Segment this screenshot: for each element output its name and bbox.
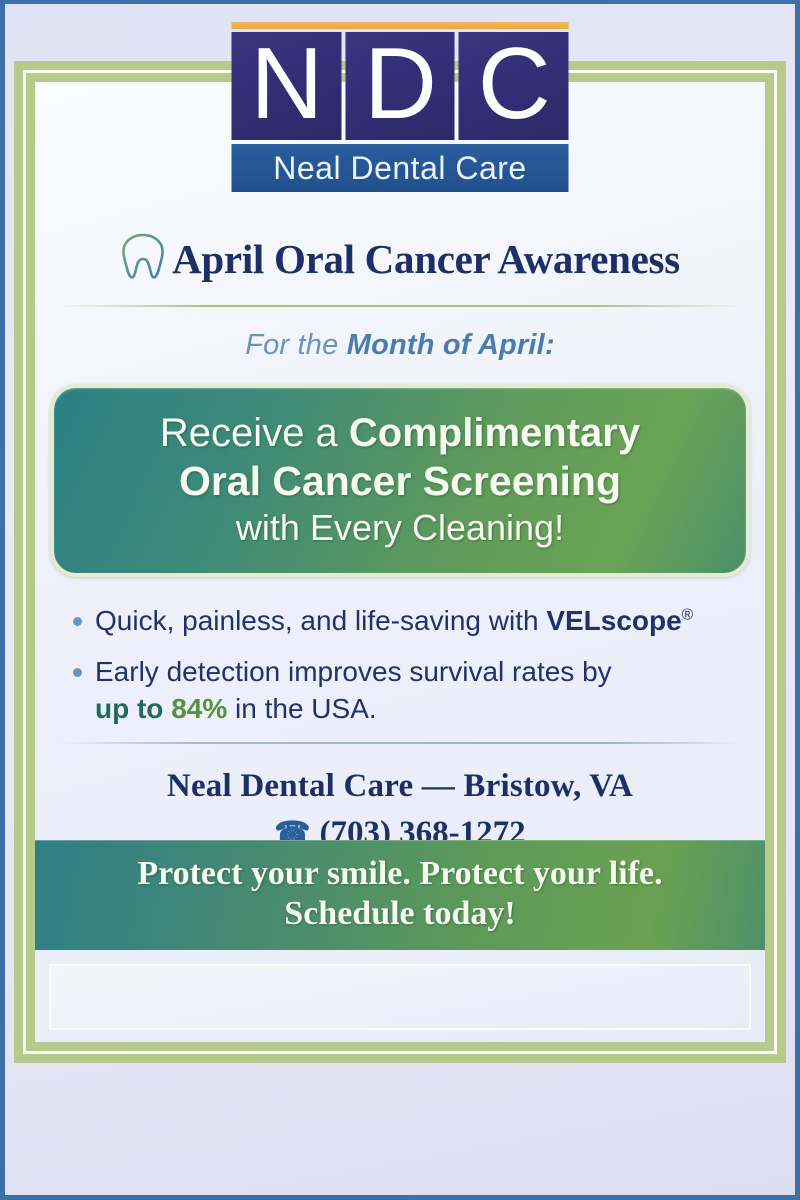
divider-blue [57,742,743,744]
frame-white-line: April Oral Cancer Awareness For the Mont… [23,70,777,1054]
offer-line-1: Receive a Complimentary [74,412,726,454]
divider-green [57,305,743,307]
velscope-brand: VELscope [546,605,681,636]
tooth-icon [120,230,166,287]
list-item: Quick, painless, and life-saving with VE… [73,603,727,640]
bullet-text-2: Early detection improves survival rates … [95,654,612,728]
offer-line-1-normal: Receive a [160,411,349,455]
offer-banner: Receive a Complimentary Oral Cancer Scre… [54,388,746,573]
offer-line-2: Oral Cancer Screening [74,460,726,503]
subtitle: For the Month of April: [35,329,765,362]
bullet-2-stat: 84% [171,693,227,724]
bullet-2-emphasis-prefix: up to [95,693,171,724]
cta-line-1: Protect your smile. Protect your life. [45,854,755,894]
offer-banner-outer: Receive a Complimentary Oral Cancer Scre… [50,384,750,577]
flyer-canvas: April Oral Cancer Awareness For the Mont… [0,0,800,1200]
offer-line-3: with Every Cleaning! [74,509,726,547]
offer-line-1-bold: Complimentary [349,411,640,455]
cta-banner: Protect your smile. Protect your life. S… [35,840,765,950]
page-title: April Oral Cancer Awareness [172,235,680,283]
benefit-list: Quick, painless, and life-saving with VE… [73,603,727,728]
logo-letters: N D C [232,32,569,140]
logo: N D C Neal Dental Care [232,22,569,192]
footer-panel [49,964,751,1030]
decorative-frame: April Oral Cancer Awareness For the Mont… [14,61,786,1063]
registered-mark-icon: ® [682,607,693,624]
subtitle-bold: Month of April: [347,329,555,361]
logo-practice-name: Neal Dental Care [232,144,569,192]
bullet-1-prefix: Quick, painless, and life-saving with [95,605,546,636]
practice-location: Neal Dental Care — Bristow, VA [35,768,765,805]
headline-row: April Oral Cancer Awareness [35,230,765,287]
bullet-2-line1: Early detection improves survival rates … [95,656,612,687]
bullet-2-line2-after: in the USA. [227,693,376,724]
bullet-dot-icon [73,617,82,626]
cta-line-2: Schedule today! [45,894,755,934]
bullet-dot-icon [73,668,82,677]
frame-inner: April Oral Cancer Awareness For the Mont… [31,78,769,1046]
subtitle-normal: For the [245,329,347,361]
bullet-text-1: Quick, painless, and life-saving with VE… [95,603,693,640]
logo-letter-c: C [459,32,569,140]
list-item: Early detection improves survival rates … [73,654,727,728]
logo-letter-d: D [345,32,455,140]
logo-letter-n: N [232,32,342,140]
